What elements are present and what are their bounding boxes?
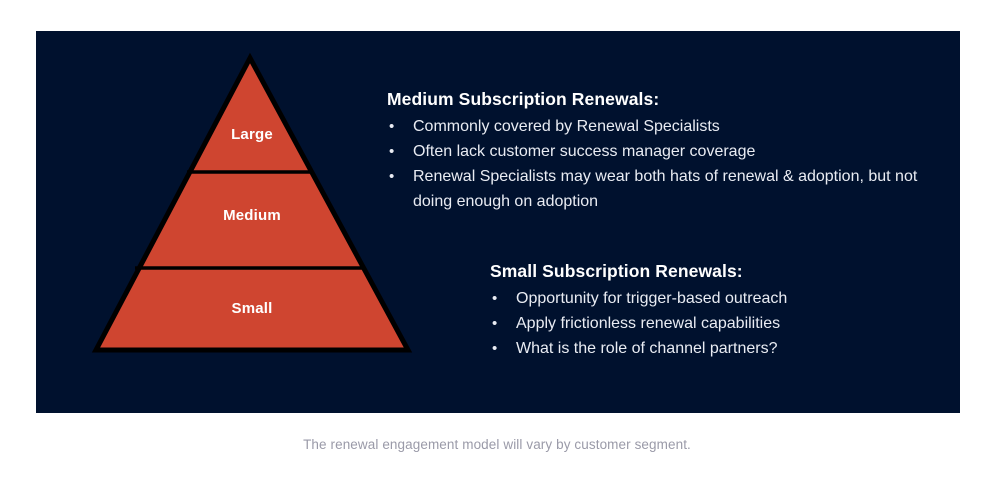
small-block-heading: Small Subscription Renewals: <box>490 261 930 282</box>
list-item-text: What is the role of channel partners? <box>516 340 777 357</box>
bullet-dot-icon: • <box>389 164 394 189</box>
list-item: • Commonly covered by Renewal Specialist… <box>387 114 932 139</box>
list-item: • Opportunity for trigger-based outreach <box>490 286 930 311</box>
bullet-dot-icon: • <box>492 311 497 336</box>
bullet-dot-icon: • <box>389 139 394 164</box>
list-item: • Often lack customer success manager co… <box>387 139 932 164</box>
medium-block-bullet-list: • Commonly covered by Renewal Specialist… <box>387 114 932 214</box>
pyramid-tier-label-large: Large <box>91 126 413 143</box>
medium-block-heading: Medium Subscription Renewals: <box>387 89 932 110</box>
list-item: • Renewal Specialists may wear both hats… <box>387 164 932 214</box>
list-item-text: Commonly covered by Renewal Specialists <box>413 118 720 135</box>
bullet-dot-icon: • <box>492 286 497 311</box>
slide-caption: The renewal engagement model will vary b… <box>0 437 994 452</box>
list-item-text: Apply frictionless renewal capabilities <box>516 315 780 332</box>
medium-subscription-block: Medium Subscription Renewals: • Commonly… <box>387 89 932 214</box>
list-item: • Apply frictionless renewal capabilitie… <box>490 311 930 336</box>
pyramid-tier-label-small: Small <box>91 300 413 317</box>
small-block-bullet-list: • Opportunity for trigger-based outreach… <box>490 286 930 361</box>
slide-panel: Large Medium Small Medium Subscription R… <box>36 31 960 413</box>
bullet-dot-icon: • <box>389 114 394 139</box>
slide-page: Large Medium Small Medium Subscription R… <box>0 0 994 486</box>
list-item-text: Often lack customer success manager cove… <box>413 143 755 160</box>
list-item-text: Opportunity for trigger-based outreach <box>516 290 787 307</box>
small-subscription-block: Small Subscription Renewals: • Opportuni… <box>490 261 930 361</box>
list-item-text: Renewal Specialists may wear both hats o… <box>413 168 917 210</box>
pyramid-tier-label-medium: Medium <box>91 207 413 224</box>
bullet-dot-icon: • <box>492 336 497 361</box>
pyramid-diagram: Large Medium Small <box>91 52 413 356</box>
list-item: • What is the role of channel partners? <box>490 336 930 361</box>
